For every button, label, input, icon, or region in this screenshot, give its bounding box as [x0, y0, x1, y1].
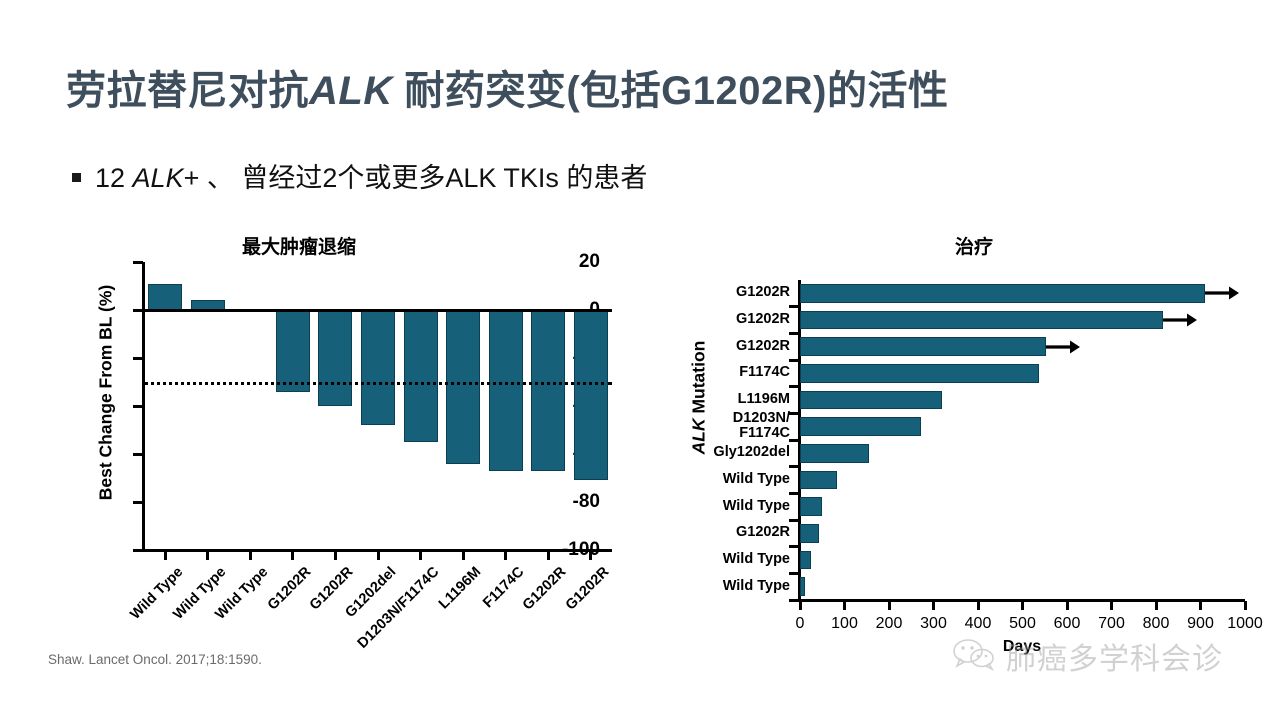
wechat-bubble-icon [952, 637, 998, 676]
swimmer-x-tick-mark [1110, 601, 1113, 610]
swimmer-x-tick-label: 200 [876, 615, 903, 633]
swimmer-y-tick-mark [789, 439, 799, 442]
swimmer-y-tick-mark [789, 519, 799, 522]
waterfall-x-tick-mark [419, 551, 422, 560]
swimmer-y-tick-mark [789, 599, 799, 602]
swimmer-y-tick-mark [789, 305, 799, 308]
swimmer-y-tick-label: L1196M [738, 392, 790, 408]
page-title-gene: ALK [309, 69, 393, 113]
swimmer-y-tick-label: G1202R [736, 285, 790, 301]
swimmer-y-tick-label: D1203N/F1174C [733, 411, 790, 442]
swimmer-x-tick-label: 1000 [1227, 615, 1263, 633]
swimmer-bar [800, 471, 837, 490]
page-title: 劳拉替尼对抗ALK 耐药突变(包括G1202R)的活性 [66, 58, 1226, 116]
waterfall-y-tick-mark [133, 453, 143, 456]
waterfall-zero-line [142, 309, 612, 312]
swimmer-x-tick-mark [1066, 601, 1069, 610]
swimmer-y-tick-label: Wild Type [723, 579, 790, 595]
swimmer-y-tick-label: Gly1202del [713, 445, 790, 461]
waterfall-bar [574, 310, 608, 480]
swimmer-bar [800, 577, 805, 596]
swimmer-y-tick-mark [789, 359, 799, 362]
bullet-marker-icon [72, 173, 81, 182]
swimmer-x-tick-label: 500 [1009, 615, 1036, 633]
swimmer-bar [800, 364, 1039, 383]
swimmer-plot-area: G1202RG1202RG1202RF1174CL1196MD1203N/F11… [800, 280, 1245, 600]
waterfall-bar [148, 284, 182, 310]
waterfall-x-tick-mark [377, 551, 380, 560]
swimmer-x-tick-label: 300 [920, 615, 947, 633]
swimmer-bar [800, 497, 822, 516]
bullet-text: 12 ALK+ 、 曾经过2个或更多ALK TKIs 的患者 [95, 156, 647, 195]
swimmer-y-tick-mark [789, 572, 799, 575]
swimmer-x-tick-label: 0 [796, 615, 805, 633]
waterfall-y-tick-mark [133, 549, 143, 552]
swimmer-x-tick-mark [843, 601, 846, 610]
page-title-post: 耐药突变(包括G1202R)的活性 [393, 69, 949, 113]
swimmer-x-tick-mark [977, 601, 980, 610]
swimmer-y-tick-label: G1202R [736, 525, 790, 541]
waterfall-x-tick-mark [504, 551, 507, 560]
swimmer-y-tick-mark [789, 465, 799, 468]
waterfall-bar [361, 310, 395, 425]
waterfall-bar [446, 310, 480, 464]
swimmer-bar [800, 284, 1205, 303]
swimmer-y-tick-mark [789, 492, 799, 495]
swimmer-bar [800, 391, 942, 410]
swimmer-x-tick-mark [1021, 601, 1024, 610]
waterfall-bar [489, 310, 523, 471]
waterfall-y-tick-label: -100 [562, 539, 600, 561]
swimmer-x-tick-label: 400 [965, 615, 992, 633]
swimmer-bar [800, 337, 1046, 356]
waterfall-x-tick-mark [206, 551, 209, 560]
waterfall-bar [531, 310, 565, 471]
citation: Shaw. Lancet Oncol. 2017;18:1590. [48, 652, 262, 667]
swimmer-y-tick-mark [789, 545, 799, 548]
swimmer-y-axis-gene: ALK Mutation [689, 341, 709, 455]
waterfall-bar [318, 310, 352, 406]
swimmer-x-tick-label: 800 [1143, 615, 1170, 633]
swimmer-y-axis-label: ALK Mutation [689, 298, 710, 498]
swimmer-y-tick-mark [789, 332, 799, 335]
swimmer-x-tick-label: 100 [831, 615, 858, 633]
swimmer-bar [800, 311, 1163, 330]
swimmer-bar [800, 524, 819, 543]
waterfall-x-tick-mark [164, 551, 167, 560]
watermark-text: 肺癌多学科会诊 [1006, 634, 1223, 678]
swimmer-bar [800, 444, 869, 463]
waterfall-chart: 最大肿瘤退缩 Best Change From BL (%) 200-20-40… [52, 232, 652, 632]
bullet-text-pre: 12 [95, 163, 133, 193]
swimmer-x-tick-label: 900 [1187, 615, 1214, 633]
waterfall-y-tick-mark [133, 501, 143, 504]
waterfall-x-tick-mark [462, 551, 465, 560]
waterfall-x-tick-mark [334, 551, 337, 560]
swimmer-x-tick-mark [1199, 601, 1202, 610]
waterfall-plot-area: 200-20-40-60-80-100 Wild TypeWild TypeWi… [144, 262, 612, 550]
waterfall-x-tick-mark [291, 551, 294, 560]
swimmer-bar [800, 417, 921, 436]
swimmer-y-tick-mark [789, 385, 799, 388]
swimmer-x-tick-mark [888, 601, 891, 610]
waterfall-chart-title: 最大肿瘤退缩 [242, 232, 356, 259]
swimmer-x-tick-label: 600 [1054, 615, 1081, 633]
swimmer-x-tick-label: 700 [1098, 615, 1125, 633]
swimmer-y-tick-label: Wild Type [723, 552, 790, 568]
swimmer-x-tick-mark [932, 601, 935, 610]
waterfall-bar [404, 310, 438, 442]
bullet-text-post: + 、 曾经过2个或更多ALK TKIs 的患者 [184, 163, 648, 193]
swimmer-bar [800, 551, 811, 570]
waterfall-y-axis-label: Best Change From BL (%) [96, 273, 117, 513]
waterfall-x-tick-mark [249, 551, 252, 560]
watermark: 肺癌多学科会诊 [952, 634, 1223, 678]
bullet-text-gene: ALK [133, 163, 184, 193]
swimmer-x-tick-mark [1155, 601, 1158, 610]
waterfall-y-tick-mark [133, 357, 143, 360]
swimmer-y-tick-label: G1202R [736, 312, 790, 328]
swimmer-x-tick-mark [799, 601, 802, 610]
page-title-pre: 劳拉替尼对抗 [66, 69, 309, 113]
swimmer-y-tick-label: Wild Type [723, 499, 790, 515]
waterfall-x-tick-mark [589, 551, 592, 560]
waterfall-bar [276, 310, 310, 392]
swimmer-y-tick-label: F1174C [739, 365, 790, 381]
swimmer-x-tick-mark [1244, 601, 1247, 610]
bullet-list-item: 12 ALK+ 、 曾经过2个或更多ALK TKIs 的患者 [72, 156, 647, 195]
waterfall-y-tick-mark [133, 405, 143, 408]
waterfall-x-tick-mark [547, 551, 550, 560]
waterfall-y-tick-label: -80 [573, 491, 600, 513]
swimmer-y-tick-label: G1202R [736, 339, 790, 355]
waterfall-y-tick-mark [133, 261, 143, 264]
waterfall-y-tick-label: 20 [579, 251, 600, 273]
swimmer-y-tick-mark [789, 412, 799, 415]
swimmer-chart: 治疗 ALK Mutation G1202RG1202RG1202RF1174C… [655, 232, 1255, 642]
waterfall-reference-line [144, 382, 612, 385]
swimmer-chart-title: 治疗 [955, 232, 993, 259]
swimmer-y-tick-label: Wild Type [723, 472, 790, 488]
